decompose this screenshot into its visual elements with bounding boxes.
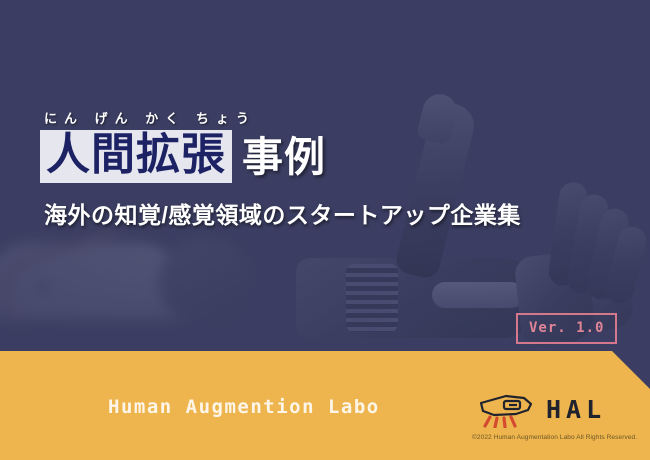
brand-wordmark: HAL [546,397,606,422]
version-badge: Ver. 1.0 [516,313,617,344]
title-furigana: にん げん かく ちょう [44,108,256,127]
title-slide: にん げん かく ちょう 人間拡張 事例 海外の知覚/感覚領域のスタートアップ企… [0,0,650,460]
copyright-text: ©2022 Human Augmentation Labo All Rights… [472,434,637,441]
page-title: 人間拡張 事例 [40,130,326,183]
page-subtitle: 海外の知覚/感覚領域のスタートアップ企業集 [44,196,521,230]
brand-lockup: HAL [476,390,606,428]
hal-hand-logo-icon [476,390,538,428]
footer-band-title: Human Augmention Labo [108,396,380,418]
title-highlighted-text: 人間拡張 [40,130,232,183]
title-plain-text: 事例 [242,136,326,182]
slide-content: にん げん かく ちょう 人間拡張 事例 海外の知覚/感覚領域のスタートアップ企… [0,0,650,460]
